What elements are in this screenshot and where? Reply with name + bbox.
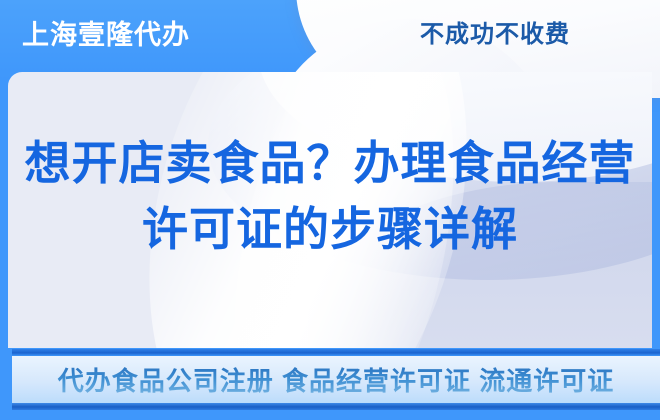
main-content-panel: 想开店卖食品？办理食品经营 许可证的步骤详解 — [8, 72, 652, 348]
promo-banner: 上海壹隆代办 不成功不收费 想开店卖食品？办理食品经营 许可证的步骤详解 代办食… — [0, 0, 660, 420]
footer-blue-fill — [0, 410, 660, 420]
divider-above-keywords — [12, 349, 660, 356]
headline-line-2: 许可证的步骤详解 — [8, 196, 652, 262]
keyword-list: 代办食品公司注册 食品经营许可证 流通许可证 — [12, 356, 660, 403]
headline: 想开店卖食品？办理食品经营 许可证的步骤详解 — [8, 130, 652, 262]
headline-line-1: 想开店卖食品？办理食品经营 — [8, 130, 652, 196]
header-tagline: 不成功不收费 — [380, 20, 610, 50]
brand-name: 上海壹隆代办 — [22, 18, 190, 52]
divider-below-keywords — [12, 403, 660, 410]
